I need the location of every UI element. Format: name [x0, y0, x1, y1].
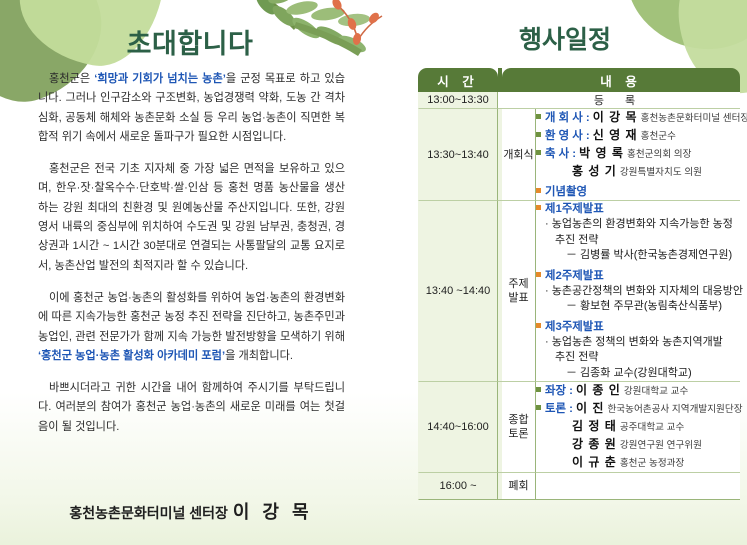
opening-item-1-name: 이 강 목	[593, 110, 638, 124]
para1-pre: 홍천군은	[49, 73, 94, 85]
discussion-item-4-name: 강 종 원	[572, 437, 617, 451]
discussion-item-3-affiliation: 공주대학교 교수	[620, 422, 684, 433]
topic-2-line-1: · 농촌공간정책의 변화와 지자체의 대응방안	[536, 284, 740, 300]
row-detail-presentations: 제1주제발표 · 농업농촌의 환경변화와 지속가능한 농정 추진 전략 － 김병…	[536, 201, 740, 382]
opening-item-4-name: 홍 성 기	[572, 164, 617, 178]
topic-2-heading-label: 제2주제발표	[545, 270, 604, 282]
signature-organization: 홍천농촌문화터미널 센터장	[69, 505, 227, 521]
topic-3-heading-label: 제3주제발표	[545, 321, 604, 333]
topic-1-line-2: 추진 전략	[536, 233, 740, 249]
discussion-item-1-name: 이 종 인	[576, 383, 621, 397]
square-bullet-icon	[536, 405, 541, 410]
row-time-discussion: 14:40~16:00	[418, 382, 498, 473]
square-bullet-icon	[536, 205, 541, 210]
schedule-table-header-row: 시 간 내 용	[418, 68, 740, 92]
discussion-item-5-name: 이 규 춘	[572, 455, 617, 469]
invitation-paragraph-2: 홍천군은 전국 기초 지자체 중 가장 넓은 면적을 보유하고 있으며, 한우·…	[38, 160, 345, 276]
topic-1-heading-label: 제1주제발표	[545, 203, 604, 215]
square-bullet-icon	[536, 132, 541, 137]
discussion-item-2-label: 토론 :	[545, 403, 573, 415]
discussion-item-3-name: 김 정 태	[572, 419, 617, 433]
opening-item-3-name: 박 영 록	[579, 146, 624, 160]
para2-pre: 홍천군은 전국 기초 지자체 중 가장 넓은 면적을 보유하고 있으며, 한우·…	[38, 163, 345, 271]
discussion-item-4: 강 종 원 강원연구원 연구위원	[536, 436, 740, 454]
table-row: 16:00 ~ 폐회	[418, 473, 740, 500]
invitation-paragraph-4: 바쁘시더라고 귀한 시간을 내어 함께하여 주시기를 부탁드립니다. 여러분의 …	[38, 379, 345, 437]
topic-3-heading: 제3주제발표	[536, 319, 740, 335]
opening-item-3: 축 사 : 박 영 록 홍천군의회 의장	[536, 145, 740, 163]
discussion-item-1-affiliation: 강원대학교 교수	[624, 386, 688, 397]
discussion-item-3: 김 정 태 공주대학교 교수	[536, 418, 740, 436]
signature-name: 이 강 목	[233, 502, 313, 522]
row-detail-discussion: 좌장 : 이 종 인 강원대학교 교수 토론 : 이 진 한국농어촌공사 지역개…	[536, 382, 740, 473]
invitation-paragraph-3: 이에 홍천군 농업·농촌의 활성화를 위하여 농업·농촌의 환경변화에 따른 지…	[38, 289, 345, 366]
topic-1-speaker: － 김병률 박사(한국농촌경제연구원)	[536, 248, 740, 264]
row-content-registration: 등 록	[498, 92, 740, 109]
para3-highlight: ‘홍천군 농업·농촌 활성화 아카데미 포럼’	[38, 350, 225, 362]
row-category-discussion: 종합 토론	[502, 382, 536, 473]
opening-item-3-label: 축 사 :	[545, 148, 576, 160]
square-bullet-icon	[536, 114, 541, 119]
row-detail-closing	[536, 473, 740, 500]
topic-3-line-1: · 농업농촌 정책의 변화와 농촌지역개발	[536, 335, 740, 351]
topic-3-speaker: － 김종화 교수(강원대학교)	[536, 366, 740, 382]
opening-item-2-label: 환 영 사 :	[545, 130, 590, 142]
table-row: 13:30~13:40 개회식 개 회 사 : 이 강 목 홍천농촌문화터미널 …	[418, 109, 740, 201]
opening-item-1: 개 회 사 : 이 강 목 홍천농촌문화터미널 센터장	[536, 109, 740, 127]
page-title-invitation: 초대합니다	[0, 22, 380, 61]
para3-post: 을 개최합니다.	[225, 350, 293, 362]
invitation-body: 홍천군은 ‘희망과 기회가 넘치는 농촌’을 군정 목표로 하고 있습니다. 그…	[38, 70, 345, 450]
discussion-item-1: 좌장 : 이 종 인 강원대학교 교수	[536, 382, 740, 400]
table-row: 14:40~16:00 종합 토론 좌장 : 이 종 인 강원대학교 교수 토론…	[418, 382, 740, 473]
discussion-item-4-affiliation: 강원연구원 연구위원	[620, 440, 702, 451]
square-bullet-icon	[536, 323, 541, 328]
topic-2-heading: 제2주제발표	[536, 268, 740, 284]
para3-pre: 이에 홍천군 농업·농촌의 활성화를 위하여 농업·농촌의 환경변화에 따른 지…	[38, 292, 345, 343]
topic-1-line-1: · 농업농촌의 환경변화와 지속가능한 농정	[536, 217, 740, 233]
para4-pre: 바쁘시더라고 귀한 시간을 내어 함께하여 주시기를 부탁드립니다. 여러분의 …	[38, 382, 345, 433]
row-time-opening: 13:30~13:40	[418, 109, 498, 201]
opening-item-5-label: 기념촬영	[545, 186, 587, 198]
discussion-item-2: 토론 : 이 진 한국농어촌공사 지역개발지원단장	[536, 400, 740, 418]
topic-2-speaker: － 황보현 주무관(농림축산식품부)	[536, 299, 740, 315]
row-category-presentations: 주제 발표	[502, 201, 536, 382]
row-time-presentations: 13:40 ~14:40	[418, 201, 498, 382]
square-bullet-icon	[536, 150, 541, 155]
table-row: 13:00~13:30 등 록	[418, 92, 740, 109]
square-bullet-icon	[536, 272, 541, 277]
opening-item-1-label: 개 회 사 :	[545, 112, 590, 124]
column-header-time: 시 간	[418, 68, 498, 92]
discussion-item-2-affiliation: 한국농어촌공사 지역개발지원단장	[607, 404, 742, 415]
opening-item-1-affiliation: 홍천농촌문화터미널 센터장	[641, 113, 747, 124]
page-title-schedule: 행사일정	[400, 20, 730, 56]
opening-item-3-affiliation: 홍천군의회 의장	[627, 149, 691, 160]
row-category-closing: 폐회	[502, 473, 536, 500]
schedule-column: 행사일정 시 간 내 용 13:00~13:30 등 록	[400, 0, 747, 545]
discussion-item-5: 이 규 춘 홍천군 농정과장	[536, 454, 740, 472]
row-time-registration: 13:00~13:30	[418, 92, 498, 109]
topic-1-heading: 제1주제발표	[536, 201, 740, 217]
poster-page: 초대합니다 홍천군은 ‘희망과 기회가 넘치는 농촌’을 군정 목표로 하고 있…	[0, 0, 747, 545]
row-category-opening: 개회식	[502, 109, 536, 201]
discussion-item-5-affiliation: 홍천군 농정과장	[620, 458, 684, 469]
discussion-item-1-label: 좌장 :	[545, 385, 573, 397]
table-row: 13:40 ~14:40 주제 발표 제1주제발표 · 농업농촌의 환경변화와 …	[418, 201, 740, 382]
row-time-closing: 16:00 ~	[418, 473, 498, 500]
para1-highlight: ‘희망과 기회가 넘치는 농촌’	[94, 73, 226, 85]
square-bullet-icon	[536, 387, 541, 392]
discussion-item-2-name: 이 진	[576, 401, 604, 415]
row-detail-opening: 개 회 사 : 이 강 목 홍천농촌문화터미널 센터장 환 영 사 : 신 영 …	[536, 109, 740, 201]
opening-item-4: 홍 성 기 강원특별자치도 의원	[536, 163, 740, 181]
opening-item-2: 환 영 사 : 신 영 재 홍천군수	[536, 127, 740, 145]
column-header-content: 내 용	[502, 68, 740, 92]
opening-item-4-affiliation: 강원특별자치도 의원	[620, 167, 702, 178]
invitation-column: 초대합니다 홍천군은 ‘희망과 기회가 넘치는 농촌’을 군정 목표로 하고 있…	[0, 0, 400, 545]
opening-item-5: 기념촬영	[536, 184, 740, 200]
invitation-paragraph-1: 홍천군은 ‘희망과 기회가 넘치는 농촌’을 군정 목표로 하고 있습니다. 그…	[38, 70, 345, 147]
opening-item-2-affiliation: 홍천군수	[641, 131, 676, 142]
signature-block: 홍천농촌문화터미널 센터장이 강 목	[0, 498, 382, 524]
opening-item-2-name: 신 영 재	[593, 128, 638, 142]
topic-3-line-2: 추진 전략	[536, 350, 740, 366]
square-bullet-icon	[536, 188, 541, 193]
schedule-table: 시 간 내 용 13:00~13:30 등 록 13:30~13:40 개회식	[418, 68, 740, 500]
